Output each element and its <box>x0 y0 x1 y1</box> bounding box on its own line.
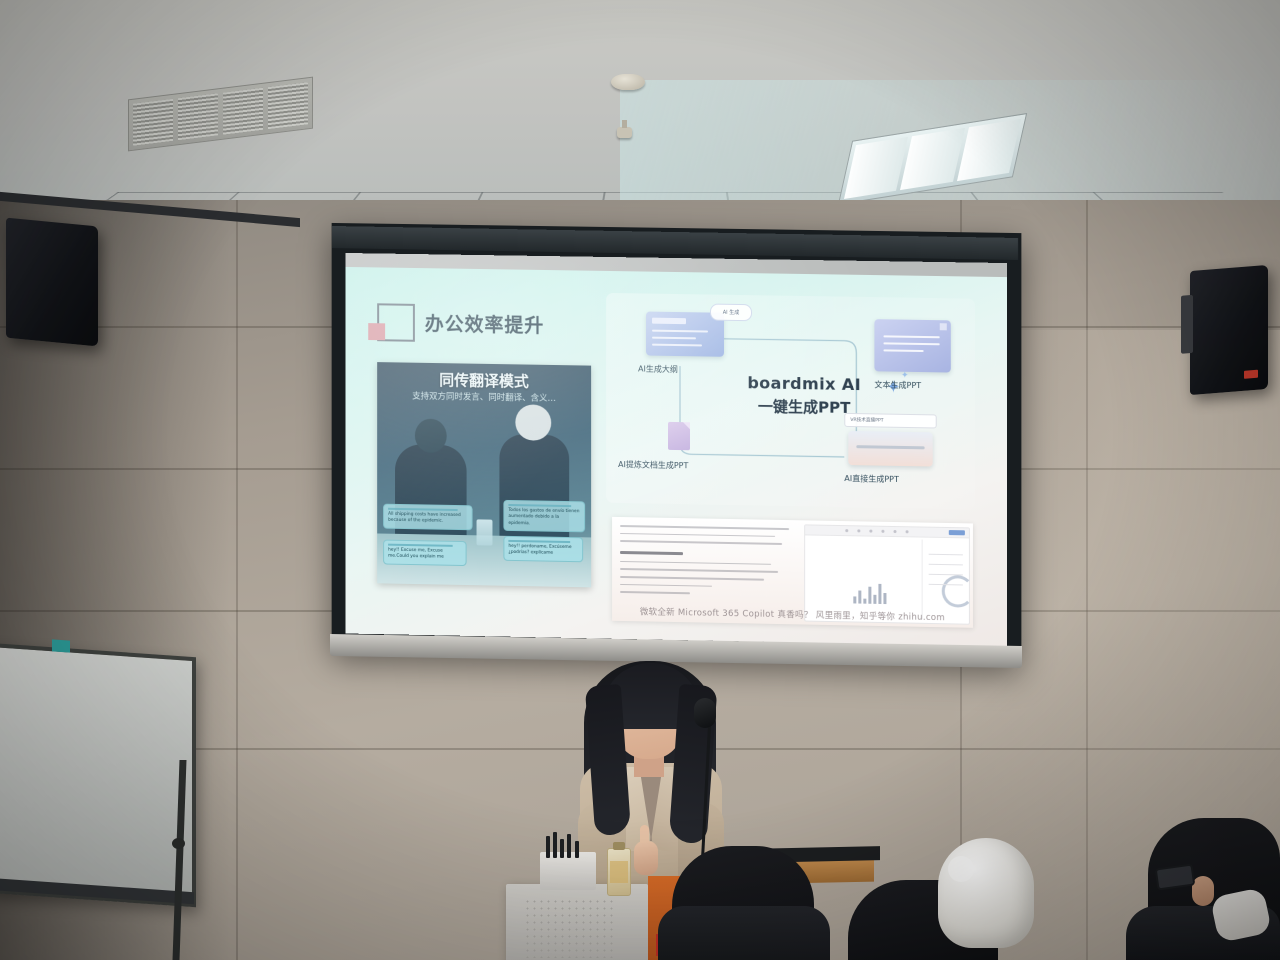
speech-bubble: hey!! perdoname, Excúseme ¿podrías? expl… <box>503 536 583 562</box>
document-icon <box>668 422 690 450</box>
whiteboard-clip <box>52 639 70 652</box>
speaker-logo-badge <box>1244 370 1258 379</box>
presentation-slide: 办公效率提升 同传翻译模式 支持双方同时发言、同时翻译、含义… All ship… <box>345 267 1007 647</box>
translation-demo-photo: 同传翻译模式 支持双方同时发言、同时翻译、含义… All shipping co… <box>377 362 591 587</box>
diagram-label-direct-ppt: AI直接生成PPT <box>844 473 899 485</box>
diagram-label-ai-outline: AI生成大纲 <box>638 363 678 375</box>
slide-title: 办公效率提升 <box>425 309 544 338</box>
smoke-detector-icon <box>611 74 645 90</box>
bottle-label <box>610 861 628 883</box>
speech-bubble: hey!! Excuse me, Excuse me.Could you exp… <box>383 540 466 566</box>
app-toolbar <box>805 525 969 538</box>
bubble-header-line <box>388 544 453 547</box>
photo-water-glass <box>476 519 492 545</box>
speech-bubble: All shipping costs have increased becaus… <box>383 504 472 530</box>
copilot-screenshot-strip: 微软全新 Microsoft 365 Copilot 真香吗？ 风里雨里，知乎等… <box>612 517 973 628</box>
brand-line-2: 一键生成PPT <box>714 395 894 419</box>
ai-generate-pill: AI 生成 <box>710 304 752 322</box>
mini-bar-chart <box>853 581 886 604</box>
bubble-text: Todos los gastos de envío tienen aumenta… <box>508 508 579 526</box>
photo-scene: 办公效率提升 同传翻译模式 支持双方同时发言、同时翻译、含义… All ship… <box>0 0 1280 960</box>
bottle-cap <box>613 842 625 850</box>
ai-direct-ppt-card <box>848 431 932 467</box>
whiteboard-knob[interactable] <box>172 838 185 849</box>
mini-donut-chart <box>942 575 973 608</box>
photo-subheading: 支持双方同时发言、同时翻译、含义… <box>377 389 591 405</box>
left-wall-speaker <box>6 218 98 347</box>
audience-right-ear <box>1192 876 1214 906</box>
white-fur-hat <box>938 838 1034 948</box>
air-vent-icon <box>128 77 313 152</box>
pens <box>542 832 594 858</box>
sprinkler-head-icon <box>617 127 632 138</box>
document-text-column <box>620 525 796 602</box>
audience-member-left <box>672 846 814 960</box>
bubble-text: hey!! perdoname, Excúseme ¿podrías? expl… <box>508 544 571 556</box>
whiteboard[interactable] <box>0 643 196 908</box>
bubble-header-line <box>508 540 569 543</box>
presenter-hand <box>634 841 658 875</box>
app-primary-button <box>949 530 965 535</box>
speaker-bracket <box>1181 295 1193 354</box>
text-to-ppt-card <box>874 319 950 372</box>
projection-screen-surface[interactable]: 办公效率提升 同传翻译模式 支持双方同时发言、同时翻译、含义… All ship… <box>345 253 1007 647</box>
right-wall-speaker <box>1190 265 1268 395</box>
lectern-perforation <box>524 898 616 958</box>
bubble-header-line <box>508 504 571 507</box>
diagram-label-text-to-ppt: 文本生成PPT <box>874 379 921 391</box>
brand-line-1: boardmix AI <box>714 373 894 395</box>
pen-holder <box>540 852 596 890</box>
boardmix-ai-diagram: AI 生成 VR技术直播PPT boardmix AI 一键生成PPT ✦ ✦ … <box>606 293 975 510</box>
bubble-text: hey!! Excuse me, Excuse me.Could you exp… <box>388 548 444 560</box>
bubble-text: All shipping costs have increased becaus… <box>388 512 461 524</box>
speech-bubble: Todos los gastos de envío tienen aumenta… <box>503 500 585 533</box>
beverage-bottle <box>607 848 631 896</box>
boardmix-brand-block: boardmix AI 一键生成PPT ✦ ✦ <box>714 373 894 419</box>
diagram-label-doc-to-ppt: AI提炼文档生成PPT <box>618 459 688 471</box>
microphone-icon <box>694 698 716 728</box>
bubble-header-line <box>388 508 458 511</box>
square-bullet-icon <box>377 303 415 341</box>
